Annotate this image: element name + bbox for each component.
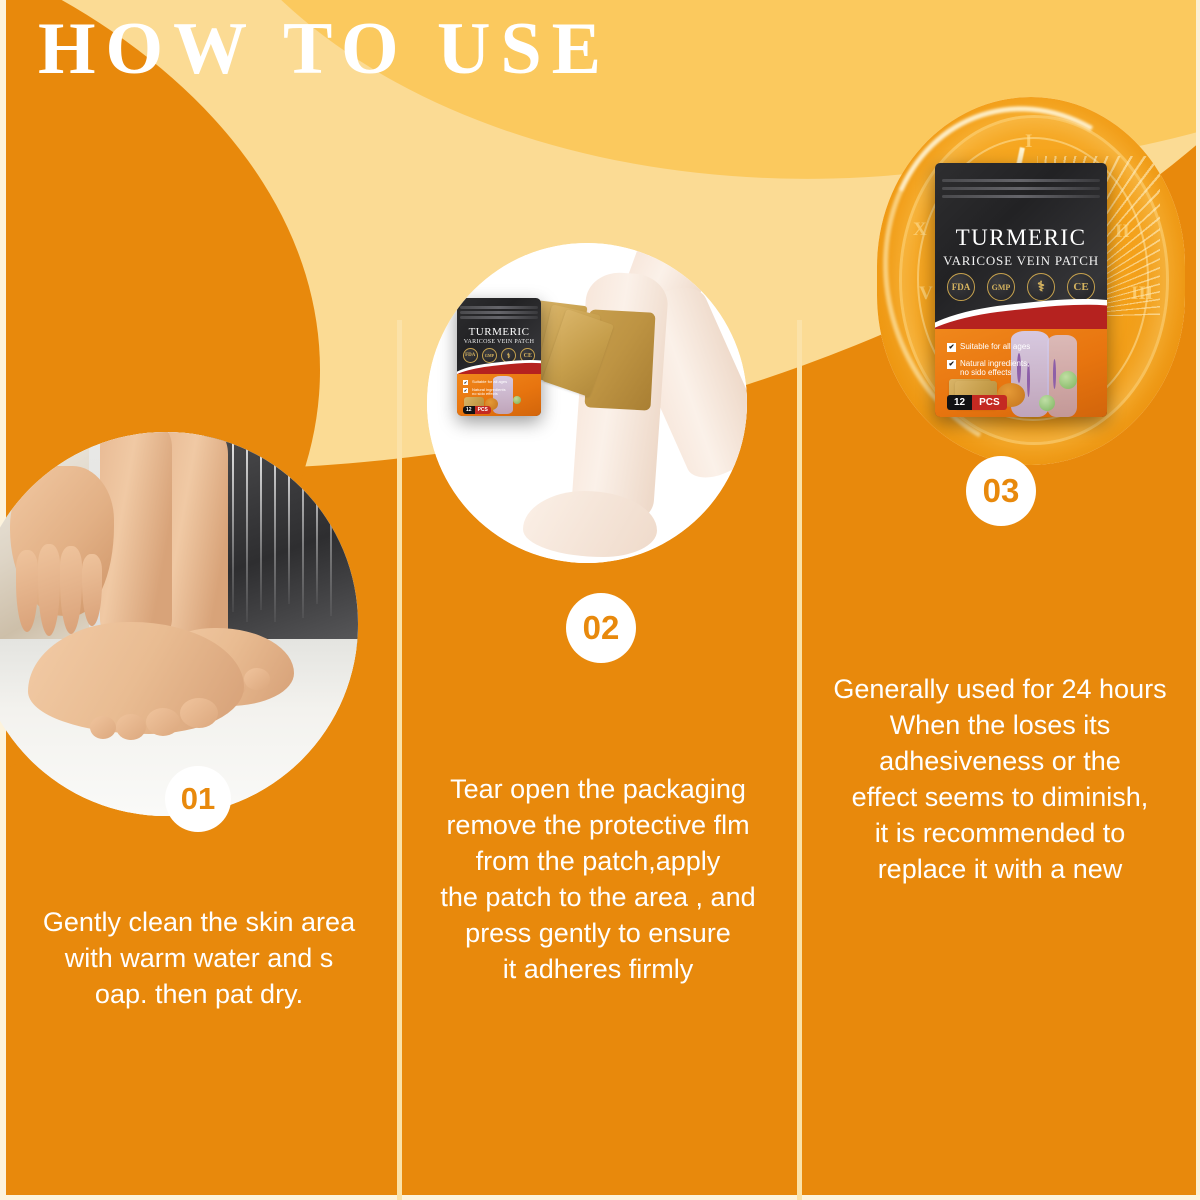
pouch-brand: TURMERIC	[935, 225, 1107, 251]
step-3-photo: I II III X V TURMERIC VARICOSE VEIN PATC…	[877, 97, 1185, 465]
quantity-value: 12	[947, 395, 972, 410]
caduceus-badge: ⚕	[1027, 273, 1055, 301]
clock-numeral-viii: V	[919, 283, 933, 305]
quantity-unit: PCS	[972, 395, 1007, 410]
legs-scene: TURMERIC VARICOSE VEIN PATCH FDA GMP ⚕ C…	[427, 243, 747, 563]
feature-1: ✔ Suitable for all ages	[947, 343, 1030, 352]
clock-numeral-ii: II	[1115, 221, 1130, 243]
ce-badge: CE	[1067, 273, 1095, 301]
pouch-subtitle-small: VARICOSE VEIN PATCH	[457, 339, 541, 345]
gmp-badge: GMP	[987, 273, 1015, 301]
checkbox-icon-2: ✔	[947, 360, 956, 369]
certification-badges: FDA GMP ⚕ CE	[935, 273, 1107, 301]
checkbox-icon: ✔	[947, 343, 956, 352]
step-3-caption: Generally used for 24 hours When the los…	[804, 672, 1196, 887]
clock-numeral-ix: X	[913, 219, 927, 241]
clock-numeral-iii: III	[1131, 283, 1153, 305]
step-2-number: 02	[566, 593, 636, 663]
step-2-photo: TURMERIC VARICOSE VEIN PATCH FDA GMP ⚕ C…	[427, 243, 747, 563]
how-to-use-poster: HOW TO USE	[0, 0, 1200, 1200]
shower-scene	[0, 432, 358, 816]
step-1-caption: Gently clean the skin area with warm wat…	[6, 905, 392, 1013]
fda-badge: FDA	[947, 273, 975, 301]
quantity-badge: 12 PCS	[947, 395, 1007, 410]
step-1-number: 01	[165, 766, 231, 832]
column-divider-1	[397, 320, 402, 1200]
step-3-number: 03	[966, 456, 1036, 526]
clock-numeral-xii: I	[1025, 131, 1032, 153]
product-pouch-large: TURMERIC VARICOSE VEIN PATCH FDA GMP ⚕ C…	[935, 163, 1107, 417]
bottom-edge-border	[0, 1195, 1200, 1200]
pouch-subtitle: VARICOSE VEIN PATCH	[935, 253, 1107, 269]
pouch-brand-small: TURMERIC	[457, 326, 541, 338]
feature-2: ✔ Natural ingredients, no sido effects	[947, 360, 1029, 378]
page-title: HOW TO USE	[38, 8, 611, 91]
column-divider-2	[797, 320, 802, 1200]
step-2-caption: Tear open the packaging remove the prote…	[404, 772, 792, 987]
step-1-photo	[0, 432, 358, 816]
product-pouch-small: TURMERIC VARICOSE VEIN PATCH FDA GMP ⚕ C…	[457, 298, 541, 416]
right-edge-border	[1196, 0, 1200, 1200]
